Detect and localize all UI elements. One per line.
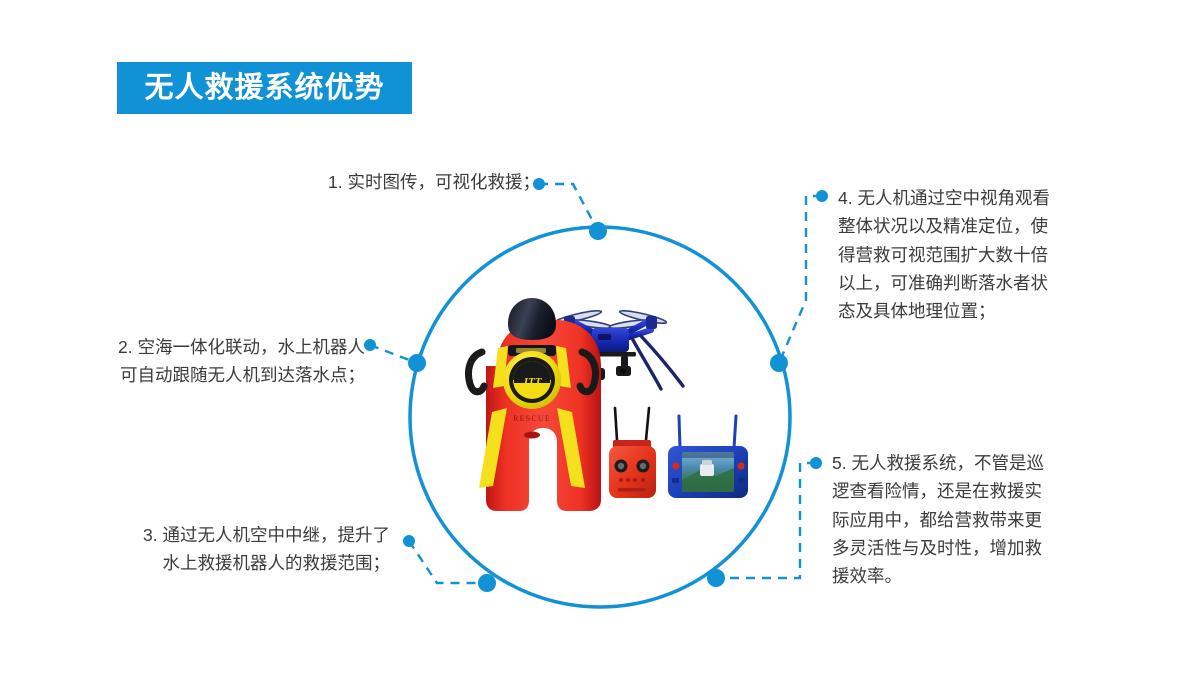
product-photo-group: JTT RESCUE xyxy=(430,290,790,550)
callout-text-2: 2. 空海一体化联动，水上机器人 可自动跟随无人机到达落水点； xyxy=(75,333,365,390)
page-title: 无人救援系统优势 xyxy=(144,74,384,103)
connector-line-1 xyxy=(539,184,598,231)
callout-text-4: 4. 无人机通过空中视角观看 整体状况以及精准定位，使 得营救可视范围扩大数十倍… xyxy=(838,184,1088,326)
product-illustration: JTT RESCUE xyxy=(430,290,790,550)
water-rescue-robot-icon: JTT RESCUE xyxy=(469,298,602,511)
circle-node-dot-5 xyxy=(707,569,725,587)
connector-line-2 xyxy=(370,345,417,363)
circle-node-dot-1 xyxy=(589,222,607,240)
callout-text-5: 5. 无人救援系统，不管是巡 逻查看险情，还是在救援实 际应用中，都给营救带来更… xyxy=(832,449,1084,591)
callout-text-3: 3. 通过无人机空中中继，提升了 水上救援机器人的救援范围； xyxy=(100,521,390,578)
red-remote-controller-icon xyxy=(609,408,656,498)
circle-node-dot-2 xyxy=(408,354,426,372)
callout-text-1: 1. 实时图传，可视化救援； xyxy=(278,168,540,196)
circle-node-dot-3 xyxy=(478,574,496,592)
callout-end-dot-4 xyxy=(816,190,828,202)
callout-end-dot-2 xyxy=(364,339,376,351)
svg-text:RESCUE: RESCUE xyxy=(513,414,551,423)
page-title-banner: 无人救援系统优势 xyxy=(117,62,412,114)
blue-video-controller-icon xyxy=(668,416,748,498)
page-root: 无人救援系统优势 xyxy=(0,0,1200,679)
callout-end-dot-5 xyxy=(810,457,822,469)
callout-end-dot-3 xyxy=(403,535,415,547)
svg-text:JTT: JTT xyxy=(522,376,543,388)
